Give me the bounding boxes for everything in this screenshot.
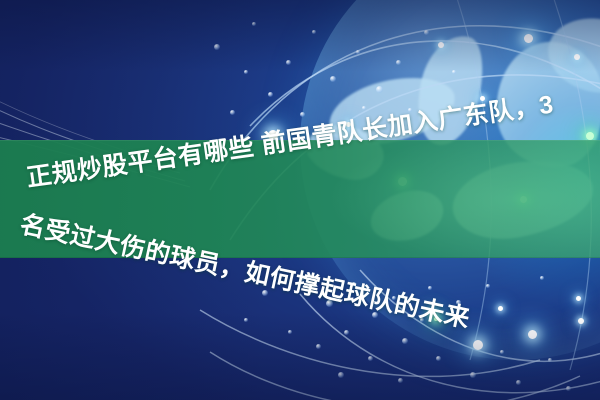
headline-text: 正规炒股平台有哪些 前国青队长加入广东队，3 名受过大伤的球员，如何撑起球队的未…	[0, 152, 600, 266]
headline-line-2: 名受过大伤的球员，如何撑起球队的未来	[13, 206, 100, 273]
headline-line-1: 正规炒股平台有哪些 前国青队长加入广东队，3	[14, 143, 159, 224]
thumbnail-banner: 正规炒股平台有哪些 前国青队长加入广东队，3 名受过大伤的球员，如何撑起球队的未…	[0, 0, 600, 400]
